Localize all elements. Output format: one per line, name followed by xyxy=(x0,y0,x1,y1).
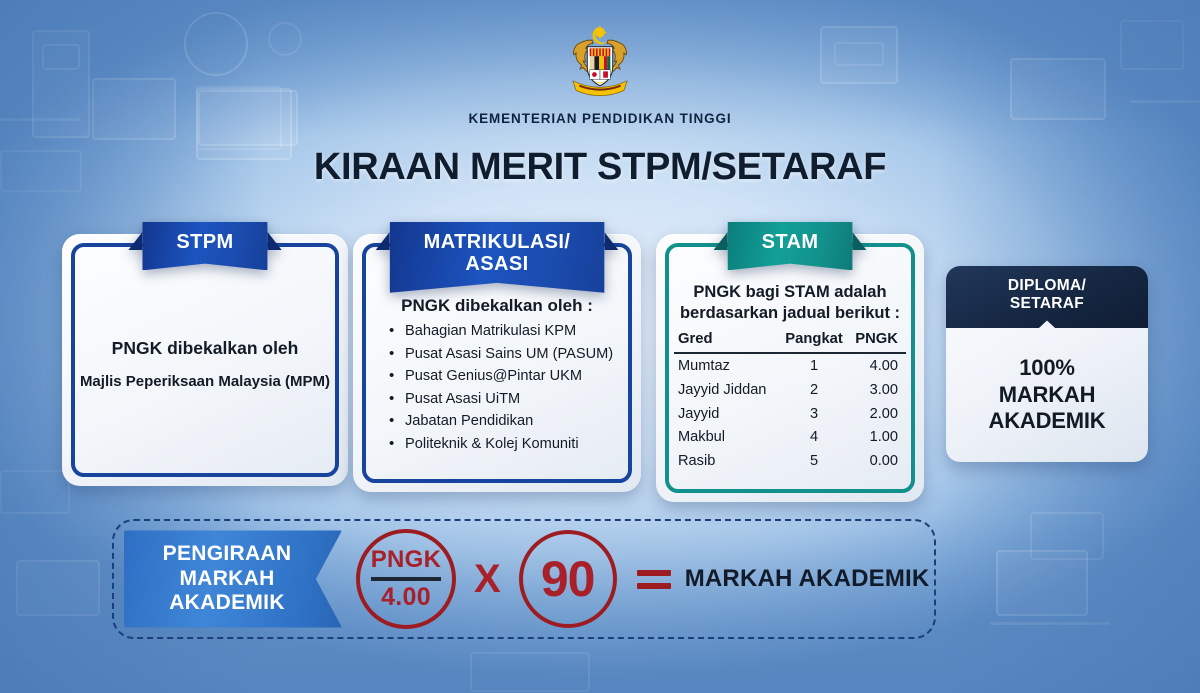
list-item: Pusat Asasi Sains UM (PASUM) xyxy=(389,346,627,362)
matrikulasi-provider-list: Bahagian Matrikulasi KPM Pusat Asasi Sai… xyxy=(367,323,627,452)
ribbon-tail-right xyxy=(268,232,282,250)
list-item: Jabatan Pendidikan xyxy=(389,413,627,429)
ribbon-tail-right xyxy=(604,232,618,250)
diploma-line-3: AKADEMIK xyxy=(989,408,1106,435)
formula-label-line-1: PENGIRAAN xyxy=(138,542,316,566)
ribbon-tail-left xyxy=(714,232,728,250)
page-header: KEMENTERIAN PENDIDIKAN TINGGI KIRAAN MER… xyxy=(0,22,1200,189)
fraction-bar xyxy=(371,577,441,581)
stam-heading-line-1: PNGK bagi STAM adalah xyxy=(674,282,906,303)
ribbon-label-stam: STAM xyxy=(728,222,853,270)
card-shell: DIPLOMA/ SETARAF 100% MARKAH AKADEMIK xyxy=(946,266,1148,462)
cell-pngk: 1.00 xyxy=(847,425,906,449)
diploma-body-text: 100% MARKAH AKADEMIK xyxy=(989,355,1106,435)
table-row: Jayyid Jiddan 2 3.00 xyxy=(674,378,906,402)
ribbon-tail-right xyxy=(852,232,866,250)
column-header-gred: Gred xyxy=(674,329,781,353)
cell-pangkat: 4 xyxy=(781,425,848,449)
list-item: Pusat Asasi UiTM xyxy=(389,391,627,407)
cell-pangkat: 1 xyxy=(781,353,848,378)
ribbon-matrikulasi: MATRIKULASI/ ASASI xyxy=(376,222,619,293)
ribbon-label-stpm: STPM xyxy=(142,222,267,270)
cell-pangkat: 5 xyxy=(781,449,848,473)
diploma-header-line-2: SETARAF xyxy=(1010,295,1084,313)
ribbon-label-matrikulasi: MATRIKULASI/ ASASI xyxy=(390,222,605,293)
table-header-row: Gred Pangkat PNGK xyxy=(674,329,906,353)
cell-gred: Jayyid Jiddan xyxy=(674,378,781,402)
matrikulasi-heading: PNGK dibekalkan oleh : xyxy=(367,296,627,316)
diploma-body: 100% MARKAH AKADEMIK xyxy=(946,328,1148,462)
table-row: Jayyid 3 2.00 xyxy=(674,401,906,425)
stpm-line-2: Majlis Peperiksaan Malaysia (MPM) xyxy=(62,373,348,390)
ribbon-label-line-2: ASASI xyxy=(424,253,571,275)
formula-result-label: MARKAH AKADEMIK xyxy=(685,565,930,593)
formula-label-ribbon: PENGIRAAN MARKAH AKADEMIK xyxy=(124,530,342,627)
cell-pangkat: 2 xyxy=(781,378,848,402)
formula-row: PENGIRAAN MARKAH AKADEMIK PNGK 4.00 X 90… xyxy=(114,521,934,637)
ribbon-label-line-1: MATRIKULASI/ xyxy=(424,231,571,253)
cell-pngk: 2.00 xyxy=(847,401,906,425)
equals-bar-bottom xyxy=(637,583,671,589)
formula-label-line-2: MARKAH xyxy=(138,567,316,591)
list-item: Pusat Genius@Pintar UKM xyxy=(389,368,627,384)
cell-gred: Rasib xyxy=(674,449,781,473)
ribbon-tail-left xyxy=(128,232,142,250)
card-stpm-body: PNGK dibekalkan oleh Majlis Peperiksaan … xyxy=(62,338,348,390)
page-title: KIRAAN MERIT STPM/SETARAF xyxy=(0,146,1200,189)
equals-bar-top xyxy=(637,570,671,576)
cell-pangkat: 3 xyxy=(781,401,848,425)
multiply-icon: X xyxy=(474,557,501,602)
formula-label-line-3: AKADEMIK xyxy=(138,591,316,615)
diploma-header-line-1: DIPLOMA/ xyxy=(1008,277,1086,295)
cell-gred: Jayyid xyxy=(674,401,781,425)
cell-pngk: 4.00 xyxy=(847,353,906,378)
ministry-name: KEMENTERIAN PENDIDIKAN TINGGI xyxy=(0,111,1200,126)
card-matrikulasi-body: PNGK dibekalkan oleh : Bahagian Matrikul… xyxy=(353,296,641,458)
multiplier-value: 90 xyxy=(541,554,595,604)
stpm-line-1: PNGK dibekalkan oleh xyxy=(62,338,348,359)
diploma-line-2: MARKAH xyxy=(989,382,1106,409)
card-matrikulasi-asasi[interactable]: MATRIKULASI/ ASASI PNGK dibekalkan oleh … xyxy=(353,234,641,492)
diploma-header: DIPLOMA/ SETARAF xyxy=(946,266,1148,328)
malaysia-coat-of-arms-icon xyxy=(552,22,648,108)
formula-panel: PENGIRAAN MARKAH AKADEMIK PNGK 4.00 X 90… xyxy=(112,519,936,639)
cell-pngk: 3.00 xyxy=(847,378,906,402)
list-item: Bahagian Matrikulasi KPM xyxy=(389,323,627,339)
diploma-percent: 100% xyxy=(989,355,1106,382)
table-row: Rasib 5 0.00 xyxy=(674,449,906,473)
stam-heading-line-2: berdasarkan jadual berikut : xyxy=(674,303,906,324)
equals-icon xyxy=(637,570,671,589)
table-row: Mumtaz 1 4.00 xyxy=(674,353,906,378)
column-header-pngk: PNGK xyxy=(847,329,906,353)
cell-pngk: 0.00 xyxy=(847,449,906,473)
table-row: Makbul 4 1.00 xyxy=(674,425,906,449)
pngk-fraction-circle: PNGK 4.00 xyxy=(356,529,456,629)
cell-gred: Mumtaz xyxy=(674,353,781,378)
fraction-denominator: 4.00 xyxy=(381,583,431,612)
stam-heading: PNGK bagi STAM adalah berdasarkan jadual… xyxy=(674,282,906,324)
card-stpm[interactable]: STPM PNGK dibekalkan oleh Majlis Peperik… xyxy=(62,234,348,486)
ribbon-stpm: STPM xyxy=(128,222,281,270)
ribbon-stam: STAM xyxy=(714,222,867,270)
cards-row: STPM PNGK dibekalkan oleh Majlis Peperik… xyxy=(0,224,1200,484)
ribbon-tail-left xyxy=(376,232,390,250)
cell-gred: Makbul xyxy=(674,425,781,449)
list-item: Politeknik & Kolej Komuniti xyxy=(389,436,627,452)
fraction-numerator: PNGK xyxy=(371,546,442,574)
column-header-pangkat: Pangkat xyxy=(781,329,848,353)
card-diploma-setaraf[interactable]: DIPLOMA/ SETARAF 100% MARKAH AKADEMIK xyxy=(946,266,1148,462)
card-stam[interactable]: STAM PNGK bagi STAM adalah berdasarkan j… xyxy=(656,234,924,502)
multiplier-circle: 90 xyxy=(519,530,617,628)
stam-grade-table: Gred Pangkat PNGK Mumtaz 1 4.00 Jayyid J… xyxy=(674,329,906,472)
card-stam-body: PNGK bagi STAM adalah berdasarkan jadual… xyxy=(656,282,924,472)
